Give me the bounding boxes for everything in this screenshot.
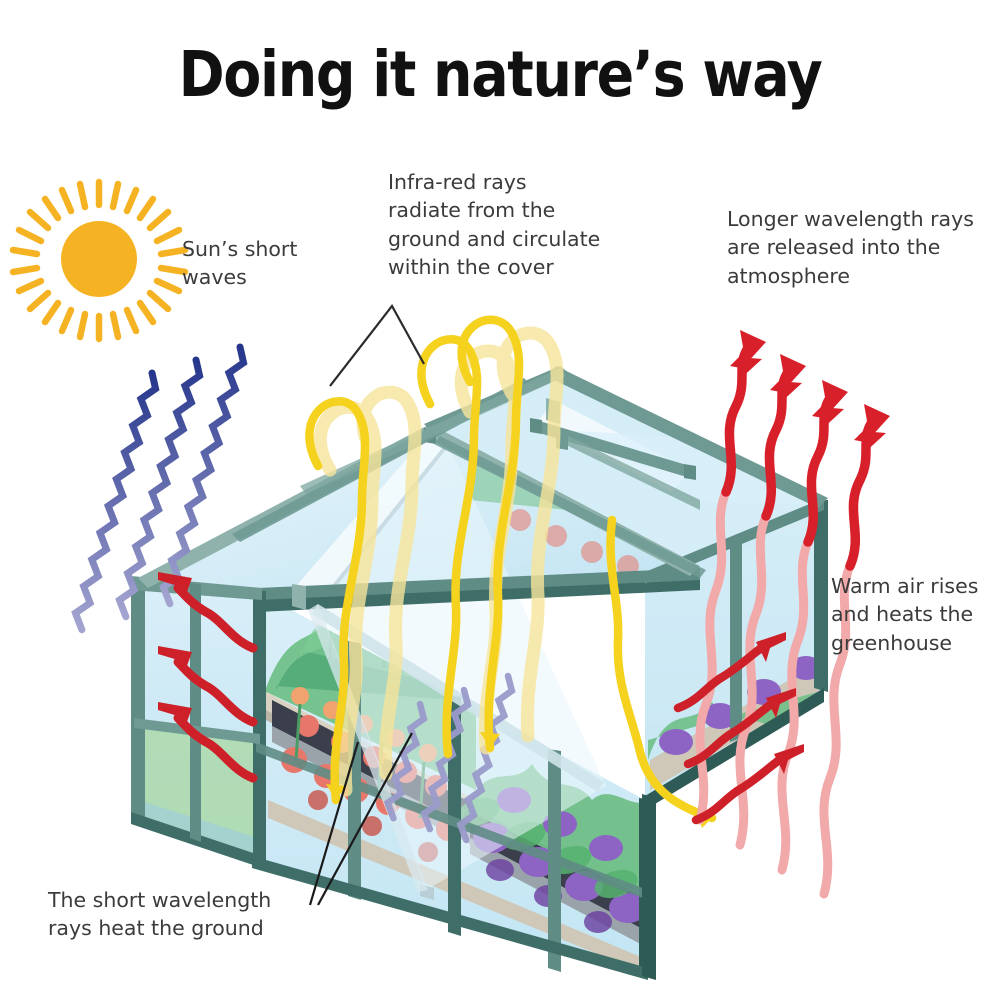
frame-post [253,590,266,866]
annotation-longer-wavelength: Longer wavelength rays are released into… [727,205,974,290]
infographic-canvas: Doing it nature’s way [0,0,1000,1000]
annotation-short-wavelength-ground: The short wavelength rays heat the groun… [48,886,271,943]
annotation-sun-short-waves: Sun’s short waves [182,235,297,292]
red-arrow-head [730,348,886,455]
annotation-warm-air-rises: Warm air rises and heats the greenhouse [831,572,978,657]
right-end-midpost [730,540,742,742]
greenhouse-diagram [0,0,1000,1000]
peak-pointer-icon [330,306,424,386]
annotation-infra-red-rays: Infra-red rays radiate from the ground a… [388,168,600,281]
left-end-midpost [190,583,201,842]
sun-icon [13,182,185,339]
